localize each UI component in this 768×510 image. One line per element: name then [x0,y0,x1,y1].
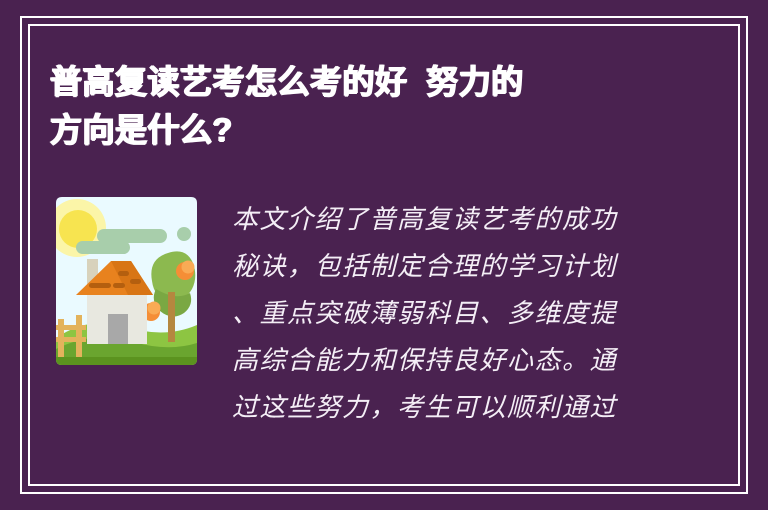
title-line-2: 方向是什么? [50,106,671,154]
article-card: 普高复读艺考怎么考的好 努力的 方向是什么? [0,0,768,510]
summary-line-4: 高综合能力和保持良好心态。通 [232,338,662,385]
summary-line-3: 、重点突破薄弱科目、多维度提 [232,291,662,338]
summary-line-5: 过这些努力，考生可以顺利通过 [232,385,662,432]
summary-line-2: 秘诀，包括制定合理的学习计划 [232,244,662,291]
article-content-row: 本文介绍了普高复读艺考的成功 秘诀，包括制定合理的学习计划 、重点突破薄弱科目、… [56,197,676,432]
title-line-1: 普高复读艺考怎么考的好 努力的 [50,58,671,106]
article-thumbnail [56,197,197,365]
house-door [108,314,128,344]
cloud-dot-icon [177,227,191,241]
page-title: 普高复读艺考怎么考的好 努力的 方向是什么? [50,58,690,154]
fruit-highlight-icon [182,261,195,274]
ground-strip [56,357,197,365]
cloud-icon [97,229,167,243]
countryside-house-illustration [56,197,197,365]
tree-trunk [168,292,175,342]
article-summary: 本文介绍了普高复读艺考的成功 秘诀，包括制定合理的学习计划 、重点突破薄弱科目、… [232,197,662,432]
fruit-highlight-icon [148,302,161,315]
cloud-icon [76,241,130,254]
summary-line-1: 本文介绍了普高复读艺考的成功 [232,197,662,244]
